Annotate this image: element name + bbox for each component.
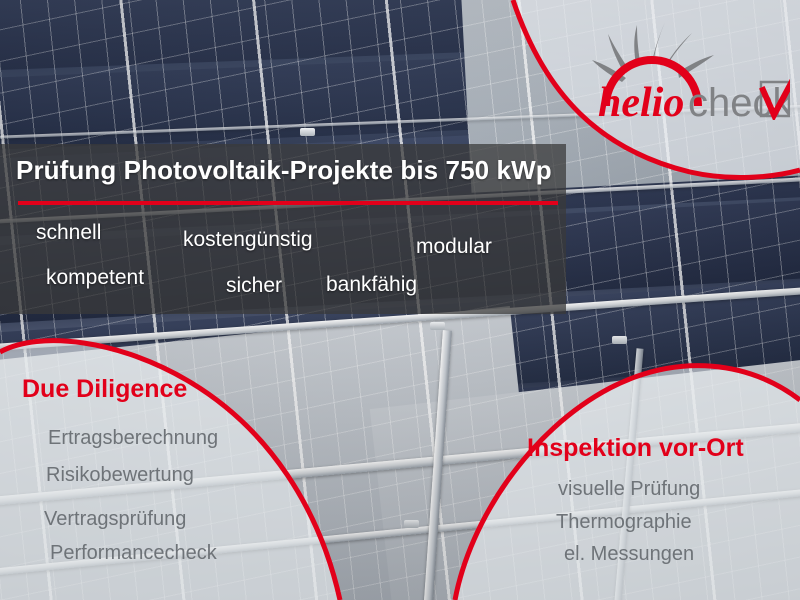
keyword-modular: modular — [416, 235, 492, 259]
inspection-item: Thermographie — [556, 511, 692, 534]
due-diligence-title: Due Diligence — [22, 375, 187, 404]
keyword-bankfaehig: bankfähig — [326, 273, 417, 297]
due-diligence-item: Vertragsprüfung — [44, 508, 186, 531]
heliocheck-logo[interactable]: helio check — [566, 20, 790, 120]
due-diligence-item: Ertragsberechnung — [48, 427, 218, 450]
logo-artwork: helio check — [566, 20, 790, 120]
keyword-kostenguenstig: kostengünstig — [183, 228, 313, 252]
headline-title: Prüfung Photovoltaik-Projekte bis 750 kW… — [16, 155, 552, 186]
marketing-banner: helio check Prüfung Photovoltaik-Projekt… — [0, 0, 800, 600]
due-diligence-item: Performancecheck — [50, 542, 217, 565]
keyword-sicher: sicher — [226, 274, 282, 298]
keyword-schnell: schnell — [36, 221, 101, 245]
inspection-item: visuelle Prüfung — [558, 478, 700, 501]
headline-divider — [18, 201, 558, 205]
keyword-kompetent: kompetent — [46, 266, 144, 290]
inspection-item: el. Messungen — [564, 543, 694, 566]
inspection-title: Inspektion vor-Ort — [527, 434, 744, 463]
due-diligence-item: Risikobewertung — [46, 464, 194, 487]
sun-rays-icon — [592, 22, 714, 82]
logo-word-helio: helio — [598, 80, 684, 120]
